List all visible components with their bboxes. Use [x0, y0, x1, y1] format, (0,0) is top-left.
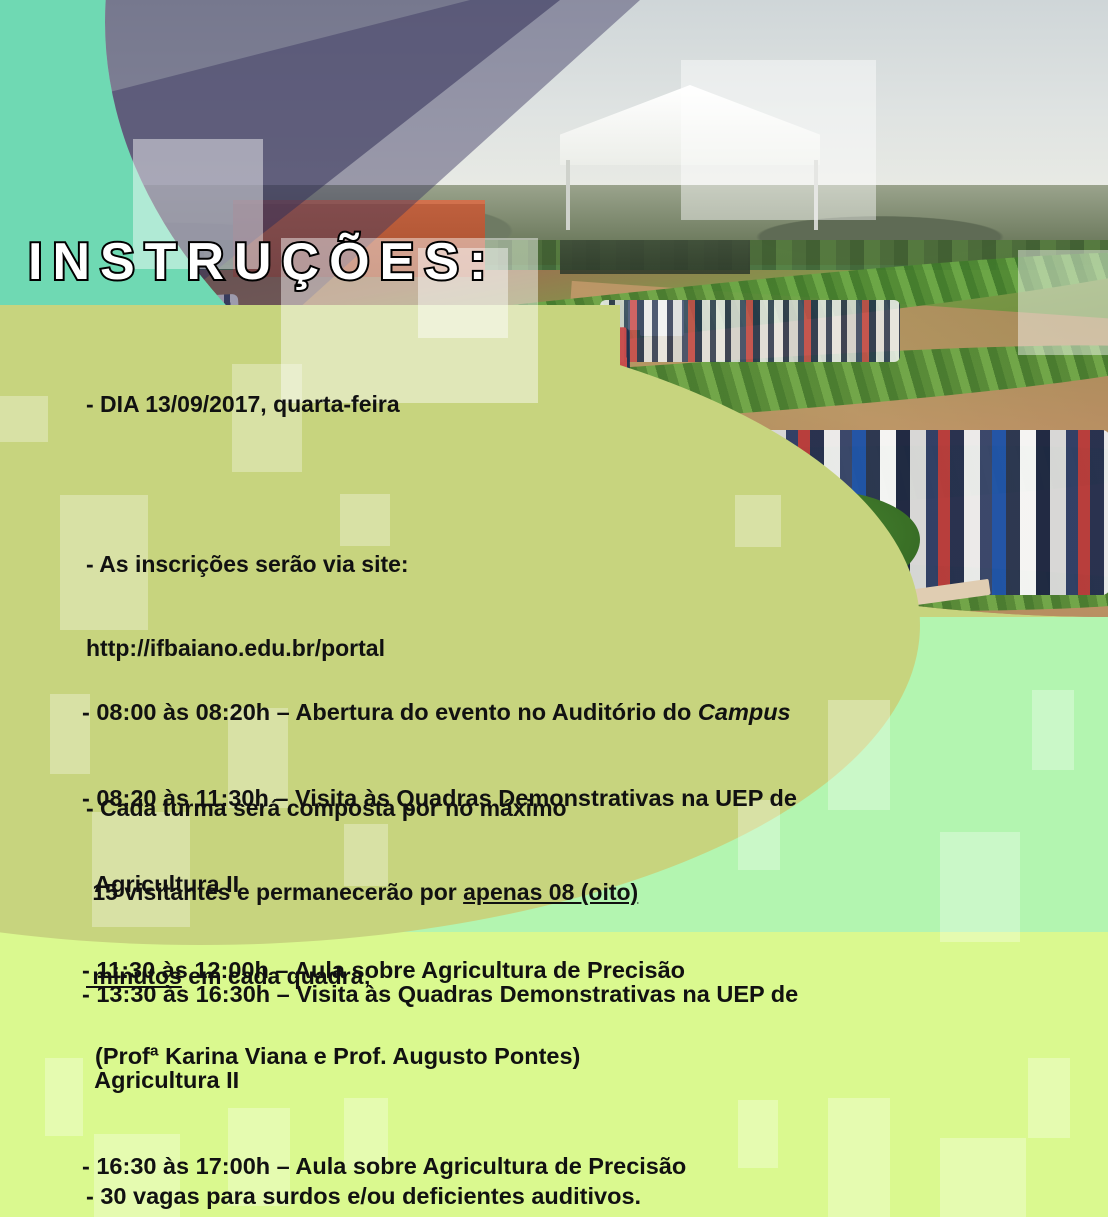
vagas-block: - 30 vagas para surdos e/ou deficientes …: [86, 1125, 641, 1217]
decor-square: [1028, 1058, 1070, 1138]
info-line-date: - DIA 13/09/2017, quarta-feira: [86, 390, 638, 418]
info-line-signup: - As inscrições serão via site:: [86, 550, 638, 578]
decor-square: [1018, 250, 1108, 355]
decor-square: [828, 1098, 890, 1217]
vagas-line: - 30 vagas para surdos e/ou deficientes …: [86, 1182, 641, 1211]
schedule-item: - 08:00 às 08:20h – Abertura do evento n…: [82, 698, 797, 727]
poster-canvas: INSTRUÇÕES: - DIA 13/09/2017, quarta-fei…: [0, 0, 1108, 1217]
schedule-item: - 08:20 às 11:30h – Visita às Quadras De…: [82, 784, 797, 813]
decor-square: [0, 396, 48, 442]
crowd-background: [600, 300, 900, 362]
schedule-item-emphasis: Campus: [698, 699, 791, 725]
decor-square: [940, 1138, 1026, 1217]
decor-square: [940, 832, 1020, 942]
page-title: INSTRUÇÕES:: [28, 232, 496, 292]
decor-square: [828, 700, 890, 810]
decor-square: [735, 495, 781, 547]
schedule-item: - 13:30 às 16:30h – Visita às Quadras De…: [82, 980, 798, 1009]
decor-square: [681, 60, 876, 220]
schedule-item-text: - 08:00 às 08:20h – Abertura do evento n…: [82, 699, 698, 725]
decor-square: [1032, 690, 1074, 770]
schedule-item: Agricultura II: [82, 1066, 798, 1095]
schedule-item: Agricultura II: [82, 870, 797, 899]
tent-leg: [566, 160, 570, 230]
decor-square: [45, 1058, 83, 1136]
spacer: [86, 474, 638, 494]
shade-house: [560, 240, 750, 274]
